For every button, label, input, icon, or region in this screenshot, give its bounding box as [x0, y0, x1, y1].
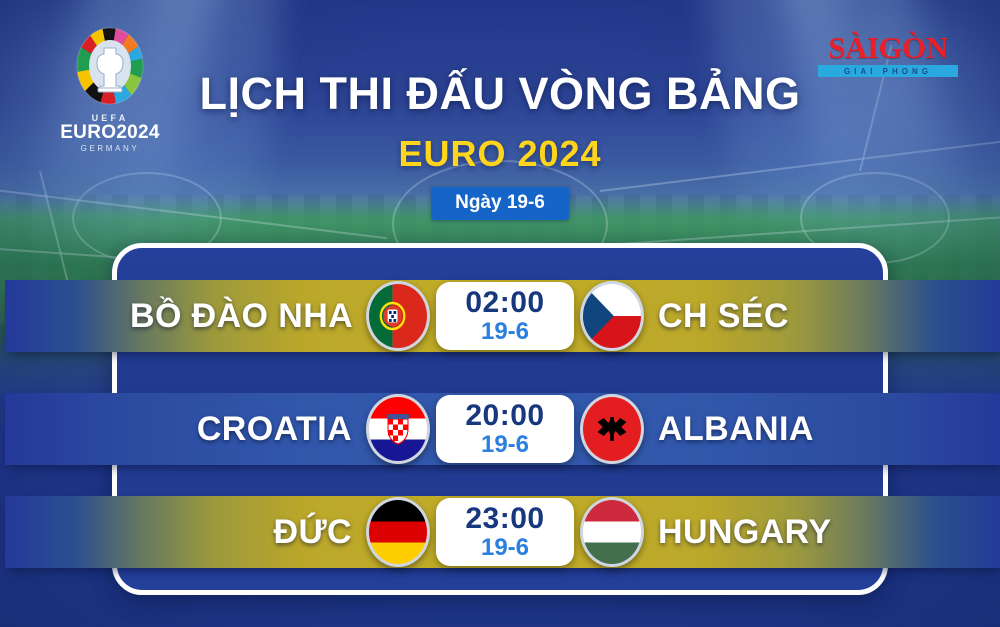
czech-republic-flag-icon	[580, 281, 644, 351]
away-team-name: CH SÉC	[644, 297, 880, 336]
home-team-name: CROATIA	[130, 410, 366, 449]
croatia-flag-icon	[366, 394, 430, 464]
match-time: 02:00	[465, 288, 544, 319]
date-badge-wrapper: Ngày 19-6	[0, 187, 1000, 220]
match-time: 23:00	[465, 504, 544, 535]
match-row[interactable]: ĐỨC 23:00 19-6	[5, 496, 1000, 568]
home-team-name: BỒ ĐÀO NHA	[130, 297, 366, 336]
away-team-name: HUNGARY	[644, 513, 880, 552]
match-schedule-panel: BỒ ĐÀO NHA	[112, 243, 888, 595]
infographic-stage: UEFA EURO2024 GERMANY SÀIGÒN GIAI PHONG …	[0, 0, 1000, 627]
date-badge: Ngày 19-6	[431, 187, 569, 220]
publisher-name: SÀIGÒN	[818, 32, 958, 63]
albania-flag-icon	[580, 394, 644, 464]
page-subtitle: EURO 2024	[0, 133, 1000, 175]
match-date: 19-6	[481, 319, 529, 344]
match-rows: BỒ ĐÀO NHA	[5, 248, 1000, 600]
match-row[interactable]: BỒ ĐÀO NHA	[5, 280, 1000, 352]
germany-flag-icon	[366, 497, 430, 567]
away-team-name: ALBANIA	[644, 410, 880, 449]
page-title: LỊCH THI ĐẤU VÒNG BẢNG	[0, 68, 1000, 120]
hungary-flag-icon	[580, 497, 644, 567]
match-date: 19-6	[481, 535, 529, 560]
match-time: 20:00	[465, 401, 544, 432]
match-time-box: 02:00 19-6	[436, 282, 574, 350]
match-time-box: 23:00 19-6	[436, 498, 574, 566]
match-time-box: 20:00 19-6	[436, 395, 574, 463]
home-team-name: ĐỨC	[130, 513, 366, 552]
match-row[interactable]: CROATIA	[5, 393, 1000, 465]
portugal-flag-icon	[366, 281, 430, 351]
match-date: 19-6	[481, 432, 529, 457]
